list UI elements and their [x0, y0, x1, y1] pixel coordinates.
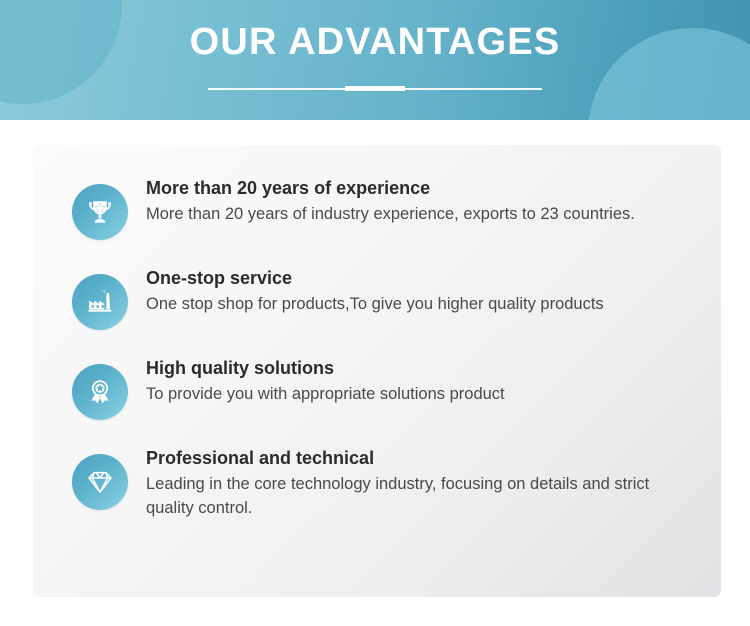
list-item[interactable]: High quality solutions To provide you wi… [33, 353, 721, 420]
page-banner: OUR ADVANTAGES [0, 0, 750, 120]
list-item-title: High quality solutions [146, 355, 701, 381]
list-item[interactable]: One-stop service One stop shop for produ… [33, 263, 721, 330]
list-item-text: One-stop service One stop shop for produ… [146, 263, 701, 317]
advantages-page: OUR ADVANTAGES [0, 0, 750, 626]
list-item-text: More than 20 years of experience More th… [146, 173, 701, 227]
list-item-text: High quality solutions To provide you wi… [146, 353, 701, 407]
factory-icon [72, 274, 128, 330]
diamond-icon [72, 454, 128, 510]
award-ribbon-icon [72, 364, 128, 420]
list-item-title: More than 20 years of experience [146, 175, 701, 201]
list-item-description: To provide you with appropriate solution… [146, 383, 701, 407]
advantages-card: More than 20 years of experience More th… [33, 145, 721, 597]
list-item[interactable]: Professional and technical Leading in th… [33, 443, 721, 521]
divider-center-accent [345, 86, 405, 91]
list-item-description: One stop shop for products,To give you h… [146, 293, 701, 317]
title-divider [208, 85, 542, 93]
list-item-description: More than 20 years of industry experienc… [146, 203, 701, 227]
advantages-list: More than 20 years of experience More th… [33, 145, 721, 521]
list-item-title: Professional and technical [146, 445, 701, 471]
page-title: OUR ADVANTAGES [190, 22, 561, 63]
trophy-icon [72, 184, 128, 240]
list-item-description: Leading in the core technology industry,… [146, 473, 701, 521]
list-item[interactable]: More than 20 years of experience More th… [33, 173, 721, 240]
list-item-title: One-stop service [146, 265, 701, 291]
list-item-text: Professional and technical Leading in th… [146, 443, 701, 521]
